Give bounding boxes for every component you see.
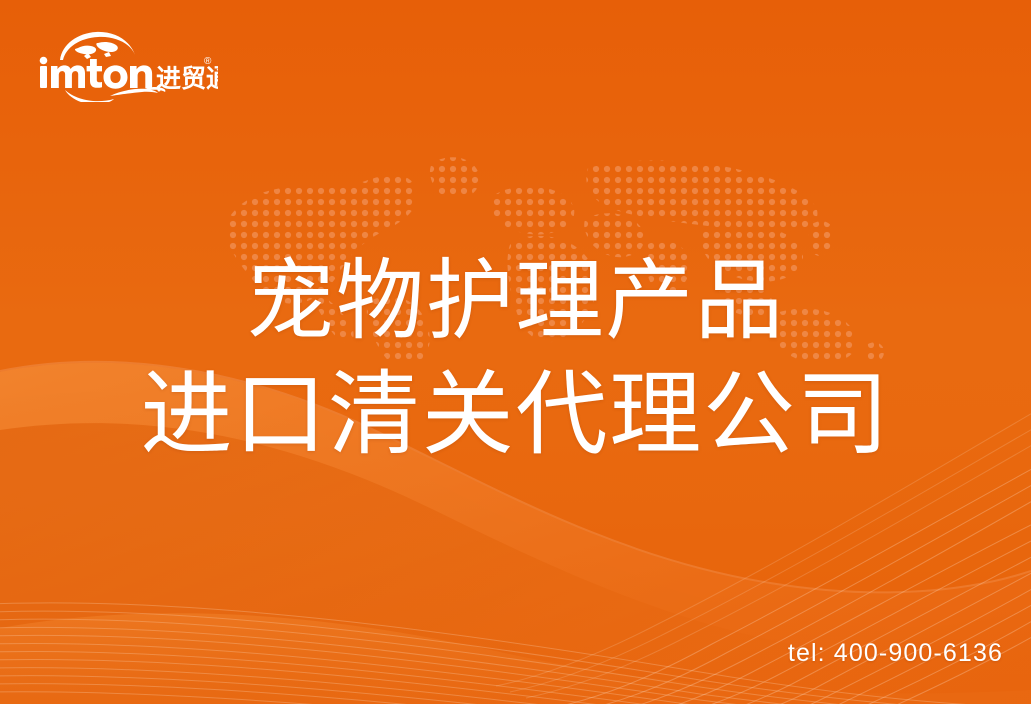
promo-banner: imton 进贸通: [0, 0, 1031, 704]
globe-arc-icon: [60, 32, 135, 60]
logo-registered-mark: ®: [204, 56, 212, 67]
swoosh-arrow-icon: [65, 87, 165, 102]
page-title: 宠物护理产品 进口清关代理公司: [0, 249, 1031, 469]
headline-line-1: 宠物护理产品: [0, 249, 1031, 353]
brand-logo[interactable]: imton 进贸通: [38, 26, 218, 102]
logo-chinese-name: 进贸通: [156, 65, 218, 93]
logo-wordmark: [40, 57, 152, 89]
contact-phone[interactable]: tel: 400-900-6136: [788, 639, 1003, 668]
headline-line-2: 进口清关代理公司: [0, 361, 1031, 470]
